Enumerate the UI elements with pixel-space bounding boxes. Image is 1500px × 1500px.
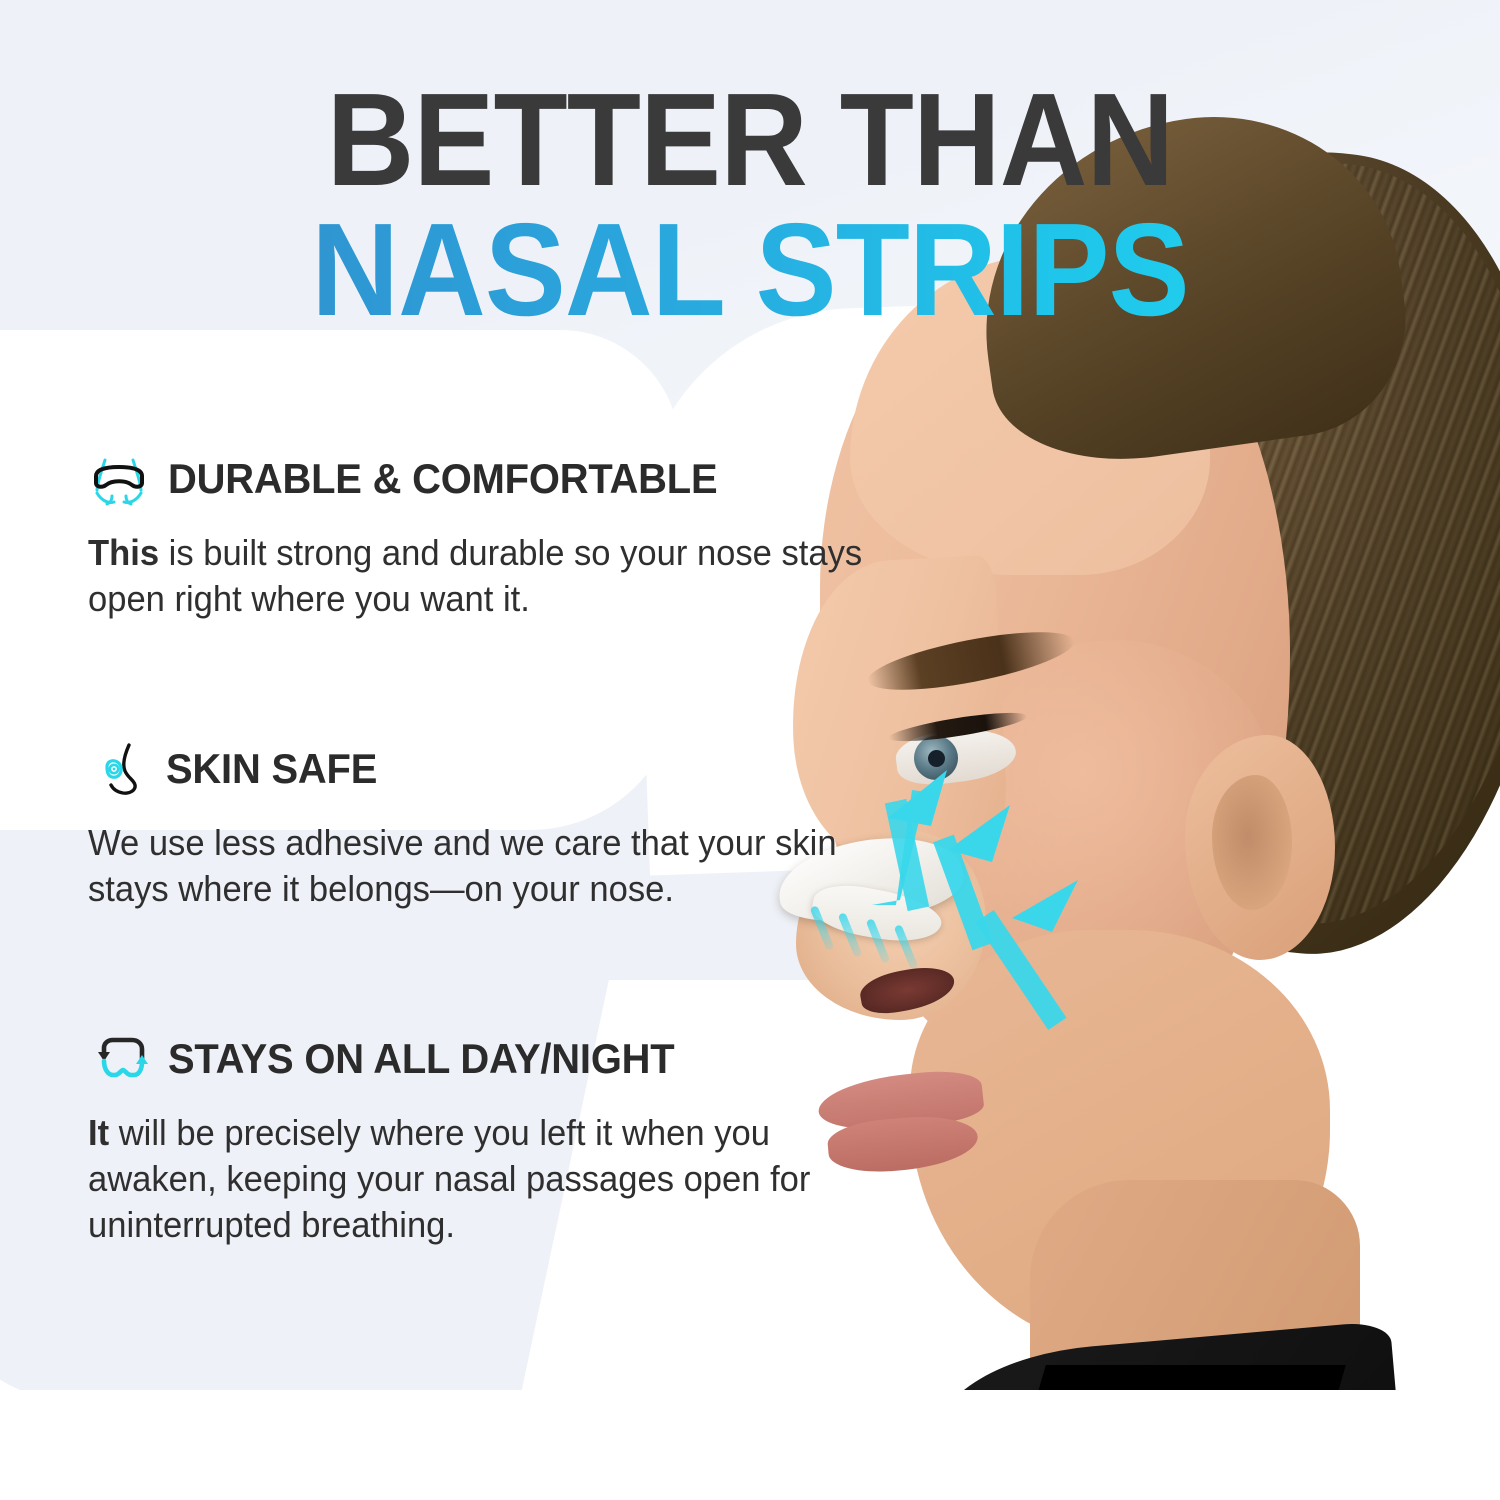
feature-heading-row: DURABLE & COMFORTABLE: [88, 450, 968, 508]
feature-body: It will be precisely where you left it w…: [88, 1110, 894, 1248]
nose-profile-adhesive-icon: [98, 740, 148, 798]
feature-body: This is built strong and durable so your…: [88, 530, 894, 622]
feature-title: DURABLE & COMFORTABLE: [168, 455, 717, 503]
feature-list: DURABLE & COMFORTABLE This is built stro…: [88, 450, 968, 1249]
feature-title: STAYS ON ALL DAY/NIGHT: [168, 1035, 674, 1083]
background-white-bottom: [0, 1390, 1500, 1500]
feature-title: SKIN SAFE: [166, 745, 377, 793]
airflow-arrow-3: [976, 880, 1078, 1030]
feature-item-skin-safe: SKIN SAFE We use less adhesive and we ca…: [88, 740, 968, 912]
feature-item-stays-on: STAYS ON ALL DAY/NIGHT It will be precis…: [88, 1030, 968, 1248]
feature-body-rest: will be precisely where you left it when…: [88, 1112, 810, 1245]
feature-heading-row: SKIN SAFE: [88, 740, 968, 798]
feature-body-lead: It: [88, 1112, 109, 1153]
infographic-page: BETTER THAN NASAL STRIPS DURABLE & COMFO…: [0, 0, 1500, 1500]
page-headline: BETTER THAN NASAL STRIPS: [0, 78, 1500, 332]
feature-body-lead: This: [88, 532, 159, 573]
nostrils-airflow-icon: [88, 450, 150, 508]
headline-line-2: NASAL STRIPS: [60, 208, 1440, 332]
day-night-cycle-icon: [92, 1030, 150, 1088]
feature-item-durable-comfortable: DURABLE & COMFORTABLE This is built stro…: [88, 450, 968, 622]
feature-body-rest: We use less adhesive and we care that yo…: [88, 822, 837, 909]
feature-body-rest: is built strong and durable so your nose…: [88, 532, 862, 619]
headline-line-1: BETTER THAN: [60, 78, 1440, 202]
feature-body: We use less adhesive and we care that yo…: [88, 820, 894, 912]
feature-heading-row: STAYS ON ALL DAY/NIGHT: [88, 1030, 968, 1088]
